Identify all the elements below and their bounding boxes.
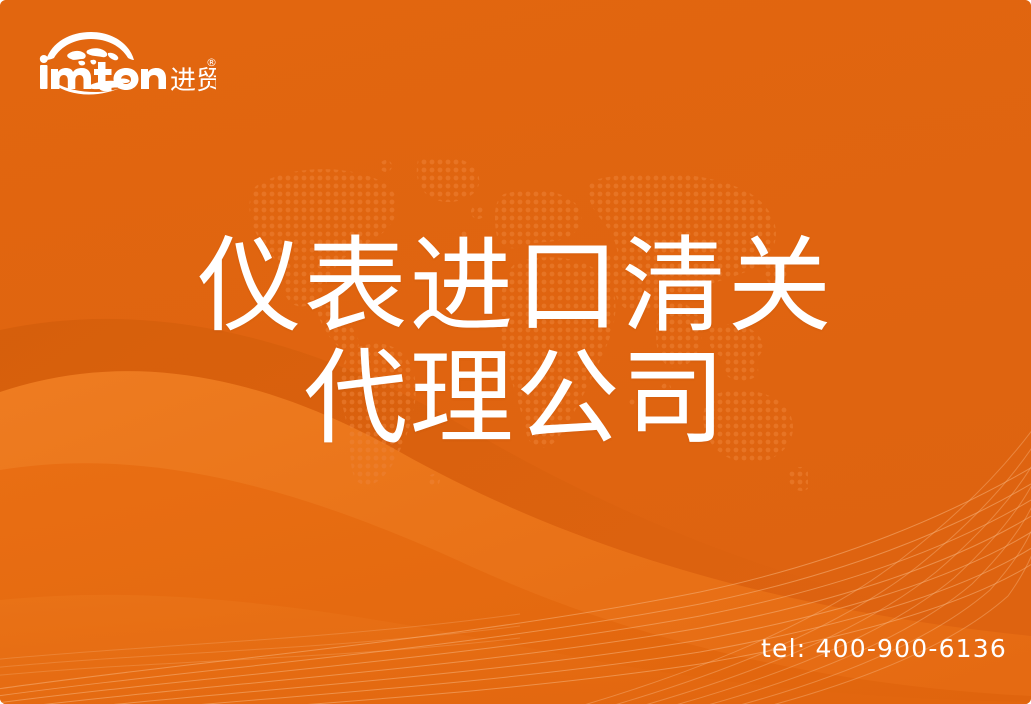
promo-banner: 进贸通 ® 仪表进口清关 代理公司 tel: 400-900-6136: [0, 0, 1031, 704]
logo-wordmark: [40, 55, 166, 91]
telephone-text: tel: 400-900-6136: [761, 634, 1007, 663]
headline: 仪表进口清关 代理公司: [0, 228, 1031, 456]
trademark-icon: ®: [206, 56, 216, 69]
imton-logo[interactable]: 进贸通 ®: [36, 26, 216, 98]
logo-chinese-name: 进贸通: [170, 66, 216, 96]
headline-line-2: 代理公司: [0, 340, 1031, 456]
headline-line-1: 仪表进口清关: [0, 228, 1031, 344]
